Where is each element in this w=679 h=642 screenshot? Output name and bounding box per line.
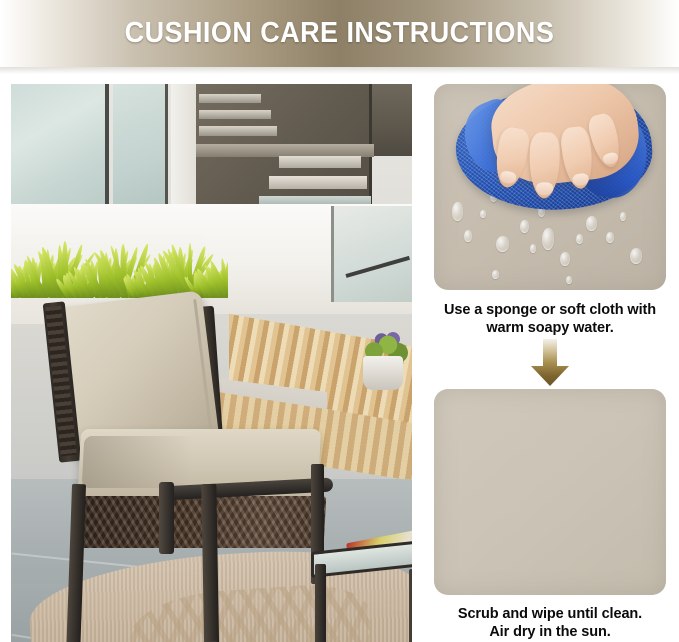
water-droplet — [586, 216, 597, 231]
fingernail — [536, 182, 553, 195]
step-2-caption-line-1: Scrub and wipe until clean. — [434, 605, 666, 623]
header-shadow — [0, 67, 679, 74]
water-droplet — [480, 210, 486, 218]
water-droplet — [520, 220, 529, 233]
water-droplet — [576, 234, 583, 244]
step-2-caption: Scrub and wipe until clean. Air dry in t… — [434, 595, 666, 641]
step-2-image — [434, 389, 666, 595]
arrow-down-icon — [529, 339, 571, 387]
water-droplet — [606, 232, 614, 243]
side-table-leg — [315, 564, 326, 642]
step-2-caption-line-2: Air dry in the sun. — [434, 623, 666, 641]
header-band: CUSHION CARE INSTRUCTIONS — [0, 0, 679, 67]
water-droplet — [560, 252, 570, 266]
fingernail — [572, 173, 589, 187]
water-droplet — [492, 270, 499, 279]
step-1-caption-line-2: warm soapy water. — [434, 319, 666, 337]
step-1-caption-line-1: Use a sponge or soft cloth with — [434, 301, 666, 319]
fingernail — [499, 170, 517, 185]
water-droplet — [630, 248, 642, 264]
water-droplet — [496, 236, 509, 252]
water-droplet — [452, 202, 463, 221]
water-droplet — [464, 230, 472, 242]
infographic-root: CUSHION CARE INSTRUCTIONS — [0, 0, 679, 642]
side-table-leg — [409, 569, 412, 642]
water-droplet — [542, 228, 554, 250]
step-1-caption: Use a sponge or soft cloth with warm soa… — [434, 290, 666, 337]
chair-leg — [66, 484, 86, 642]
water-droplet — [530, 244, 536, 253]
wicker-weave-base — [72, 496, 327, 548]
page-title: CUSHION CARE INSTRUCTIONS — [24, 0, 655, 67]
arrow-down-container — [434, 337, 666, 389]
care-steps-column: Use a sponge or soft cloth with warm soa… — [429, 84, 671, 642]
step-1-image — [434, 84, 666, 290]
fingernail — [602, 151, 619, 166]
water-droplet — [620, 212, 626, 221]
lifestyle-photo: EASY TO CLEAN — [11, 84, 412, 642]
seat-cushion-shadow — [82, 436, 195, 488]
water-droplet — [566, 276, 572, 284]
chair-arm-post — [159, 482, 174, 554]
